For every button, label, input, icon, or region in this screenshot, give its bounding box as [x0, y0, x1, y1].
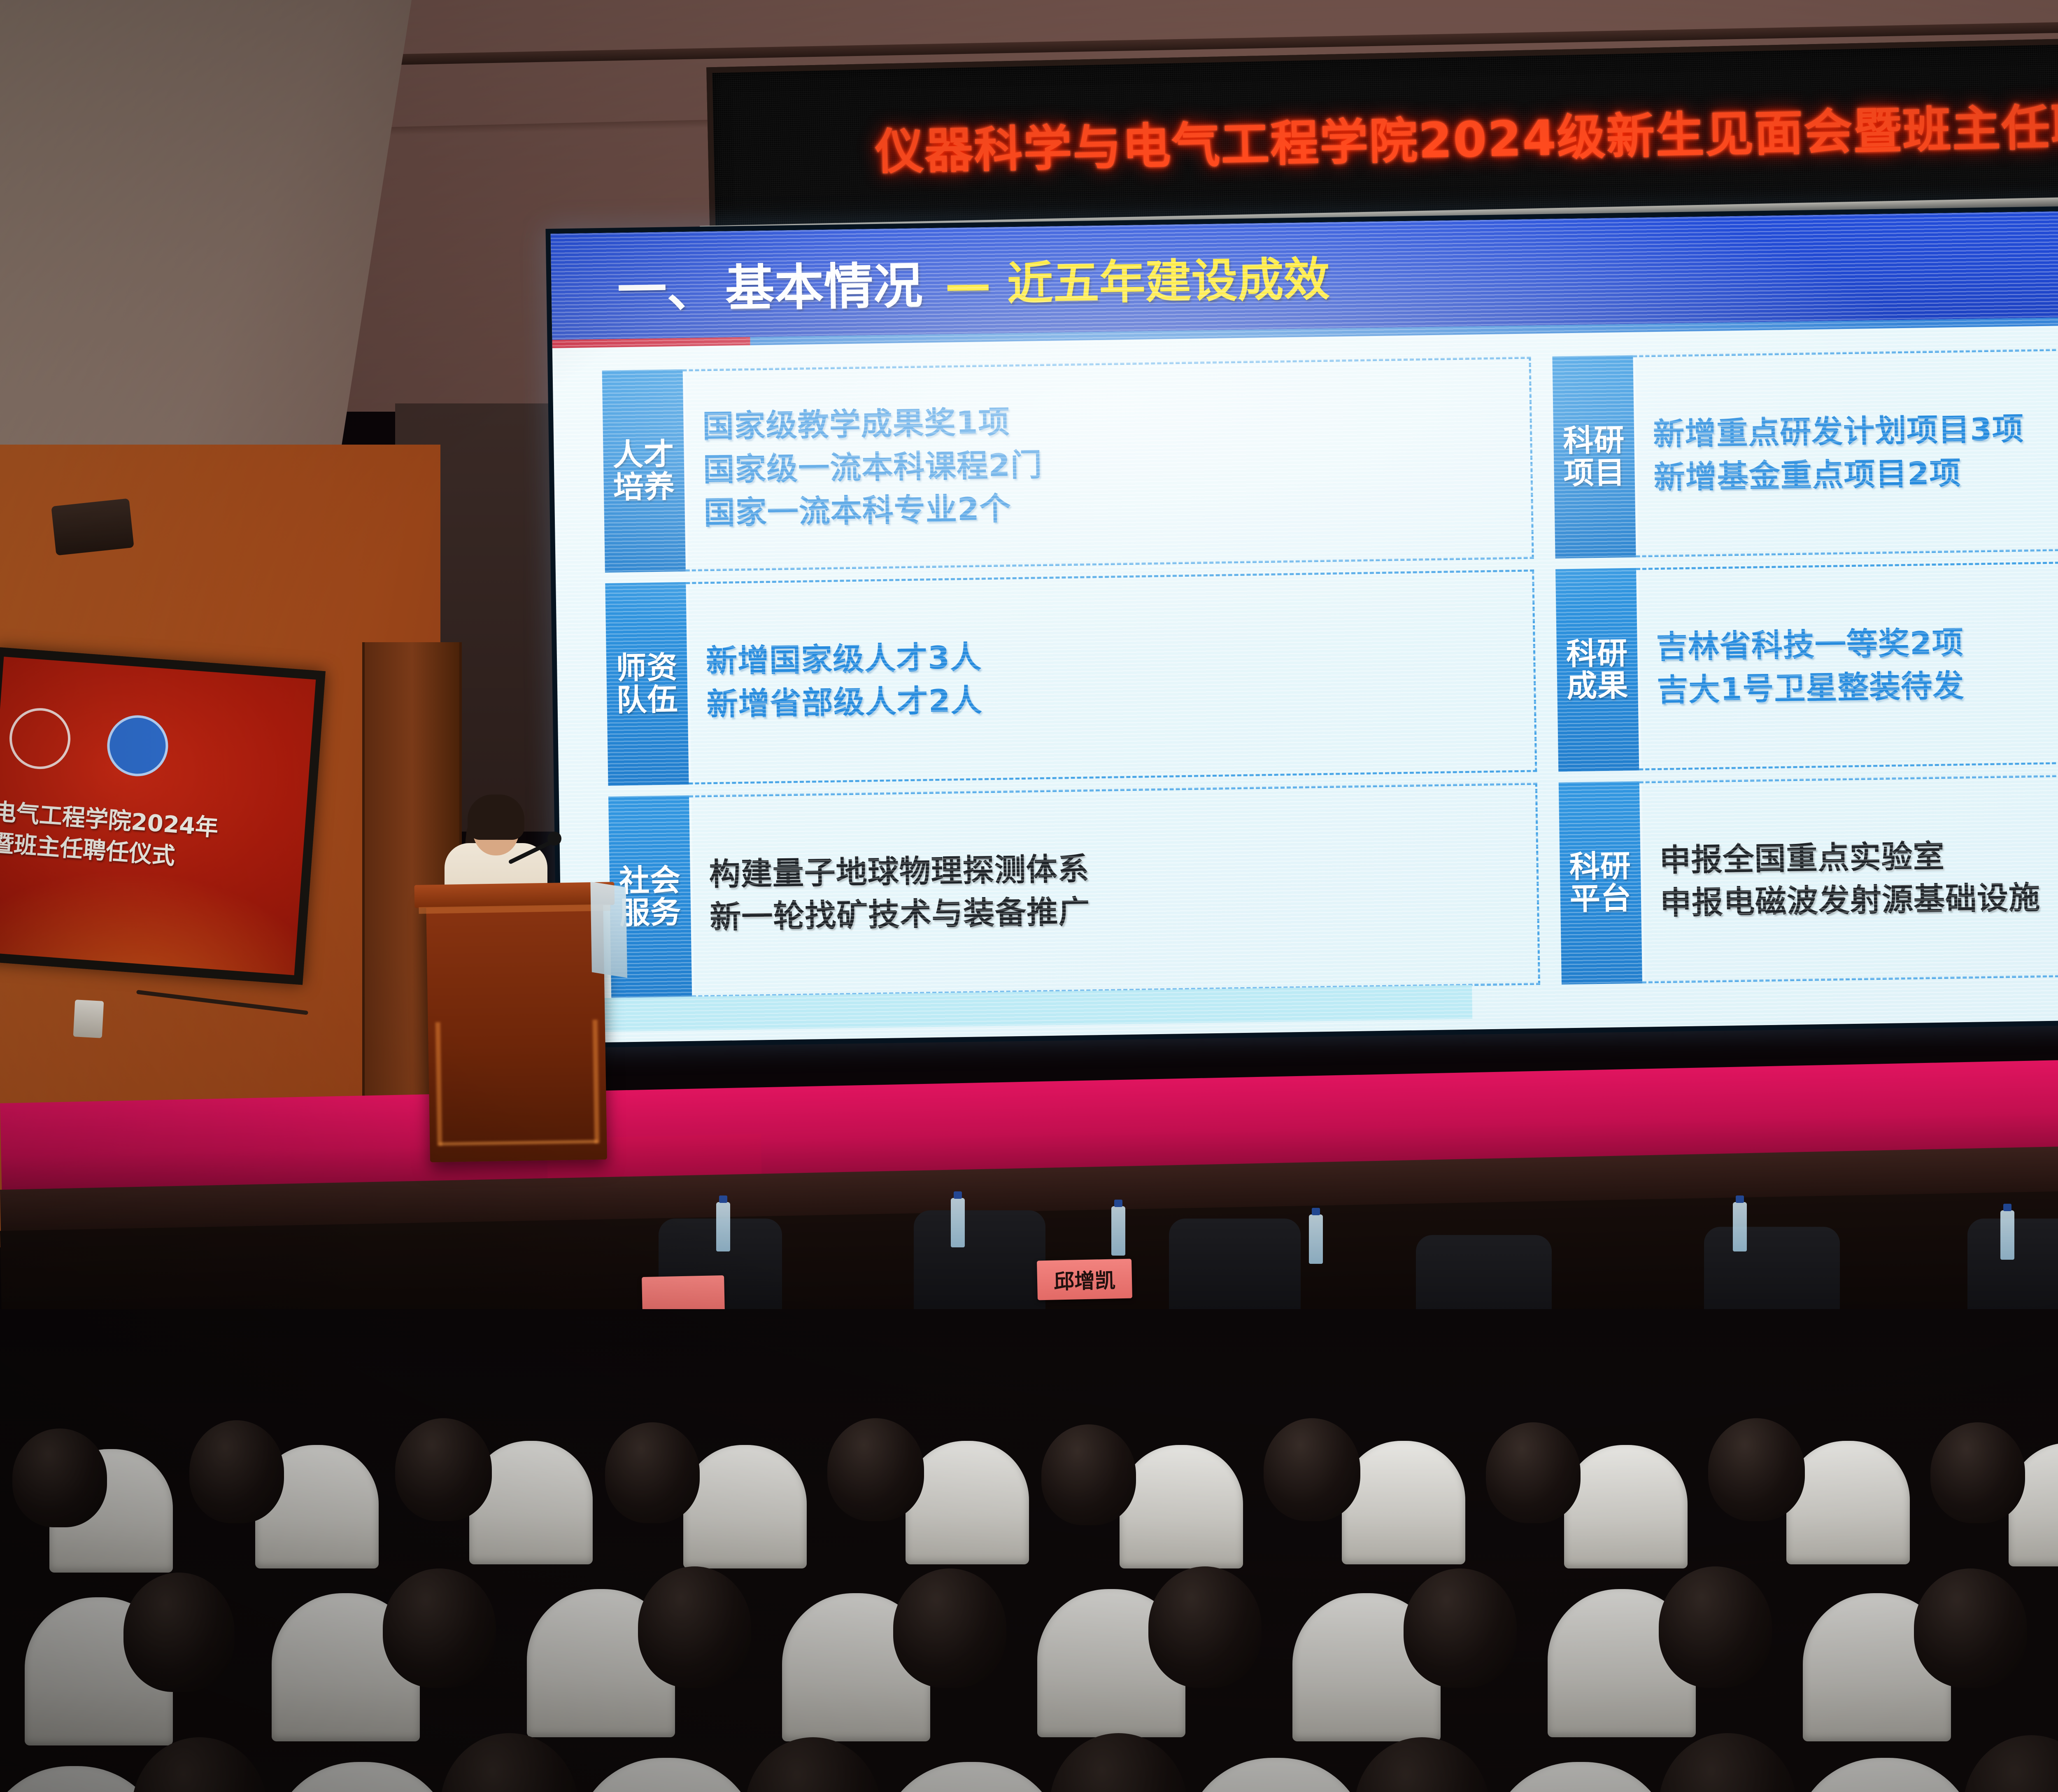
audience-head — [893, 1568, 1006, 1688]
audience-head — [745, 1737, 881, 1792]
block-tab-research-platform: 科研 平台 — [1559, 781, 1642, 984]
block-item: 吉林省科技一等奖2项 — [1656, 615, 2058, 668]
audience-head — [1963, 1735, 2058, 1792]
podium-base-light — [439, 1140, 598, 1146]
wall-speaker-icon — [51, 498, 134, 555]
podium-side-monitor-panel — [590, 882, 627, 978]
tab-line-2: 成果 — [1567, 669, 1629, 703]
slide-title-number: 一、 — [617, 249, 717, 322]
water-bottle — [1733, 1202, 1747, 1251]
block-body-research-achievements: 吉林省科技一等奖2项 吉大1号卫星整装待发 — [1636, 555, 2058, 770]
audience-head — [638, 1566, 751, 1688]
speaking-podium — [426, 896, 607, 1163]
podium-left-edge-light — [435, 1022, 442, 1146]
audience-head — [1148, 1566, 1262, 1688]
audience-head — [605, 1422, 700, 1523]
microphone-icon — [547, 832, 561, 846]
audience-head — [1404, 1568, 1517, 1688]
podium-top-surface — [414, 882, 615, 908]
block-tab-research-achievements: 科研 成果 — [1555, 568, 1639, 771]
water-bottle — [2000, 1210, 2014, 1260]
side-monitor-screen: 学与电气工程学院2024年 面会暨班主任聘任仪式 — [0, 657, 316, 975]
tab-line-2: 项目 — [1563, 457, 1625, 490]
audience-head — [123, 1573, 235, 1692]
audience-head — [1659, 1566, 1772, 1688]
college-emblem-icon — [105, 713, 170, 778]
tab-line-2: 平台 — [1569, 882, 1632, 916]
audience-chair — [1120, 1445, 1243, 1568]
block-tab-talent-cultivation: 人才 培养 — [602, 369, 686, 573]
audience-chair — [1490, 1762, 1671, 1792]
presenter-hair — [468, 795, 524, 840]
water-bottle — [716, 1202, 730, 1251]
audience-chair — [576, 1758, 757, 1792]
tab-line-2: 队伍 — [616, 683, 678, 717]
audience-head — [395, 1418, 492, 1521]
water-bottle — [1309, 1214, 1323, 1264]
block-body-social-service: 构建量子地球物理探测体系 新一轮找矿技术与装备推广 — [689, 783, 1540, 997]
audience-head — [440, 1733, 578, 1792]
audience-chair — [906, 1441, 1029, 1564]
audience-head — [1486, 1422, 1581, 1523]
audience-head — [383, 1568, 496, 1688]
audience-head — [1659, 1733, 1797, 1792]
audience-chair — [272, 1762, 453, 1792]
tab-line-1: 科研 — [1566, 637, 1628, 671]
slide-surface: 一、 基本情况 — 近五年建设成效 人才 培养 国家级教学成果奖1项 国家 — [551, 204, 2058, 1043]
audience-head — [827, 1418, 924, 1521]
audience-head — [1914, 1568, 2027, 1688]
projection-screen: 一、 基本情况 — 近五年建设成效 人才 培养 国家级教学成果奖1项 国家 — [546, 199, 2058, 1048]
audience-head — [1930, 1422, 2025, 1523]
block-item: 申报全国重点实验室 — [1659, 828, 2058, 881]
podium-right-edge-light — [593, 1020, 600, 1143]
content-block-research-platform: 科研 平台 申报全国重点实验室 申报电磁波发射源基础设施 — [1559, 769, 2058, 985]
content-block-talent-cultivation: 人才 培养 国家级教学成果奖1项 国家级一流本科课程2门 国家一流本科专业2个 — [602, 357, 1534, 573]
block-item: 新增重点研发计划项目3项 — [1653, 402, 2058, 455]
audience-head — [1041, 1424, 1136, 1525]
tab-line-1: 科研 — [1563, 424, 1625, 457]
audience-chair — [1564, 1445, 1688, 1568]
audience-head — [189, 1420, 284, 1523]
audience-chair — [1185, 1758, 1367, 1792]
water-bottle — [951, 1198, 965, 1247]
block-tab-research-projects: 科研 项目 — [1552, 355, 1636, 559]
audience-head — [1708, 1418, 1805, 1521]
side-monitor: 学与电气工程学院2024年 面会暨班主任聘任仪式 — [0, 647, 326, 985]
block-body-research-projects: 新增重点研发计划项目3项 新增基金重点项目2项 — [1633, 343, 2058, 557]
tab-line-1: 科研 — [1569, 850, 1631, 883]
audience-chair — [1795, 1758, 1976, 1792]
content-block-research-achievements: 科研 成果 吉林省科技一等奖2项 吉大1号卫星整装待发 — [1555, 555, 2058, 771]
name-placard — [642, 1275, 725, 1314]
audience-head — [1264, 1418, 1360, 1521]
audience-chair — [1786, 1441, 1910, 1564]
block-body-research-platform: 申报全国重点实验室 申报电磁波发射源基础设施 — [1639, 769, 2058, 983]
block-body-talent-cultivation: 国家级教学成果奖1项 国家级一流本科课程2门 国家一流本科专业2个 — [683, 357, 1534, 571]
block-body-faculty-team: 新增国家级人才3人 新增省部级人才2人 — [686, 570, 1537, 785]
tab-line-1: 社会 — [619, 864, 681, 897]
slide-content-grid: 人才 培养 国家级教学成果奖1项 国家级一流本科课程2门 国家一流本科专业2个 … — [552, 328, 2058, 999]
audience-area — [0, 1309, 2058, 1792]
audience-head — [1050, 1733, 1187, 1792]
slide-title-subtitle: — 近五年建设成效 — [944, 242, 1330, 315]
audience-head — [12, 1428, 107, 1527]
name-placard: 邱增凯 — [1037, 1259, 1132, 1300]
auditorium-scene: 仪器科学与电气工程学院2024级新生见面会暨班主任聘任仪式 一、 基本情况 — … — [0, 0, 2058, 1792]
slide-title-main: 基本情况 — [724, 245, 923, 320]
monitor-logo-row — [7, 706, 170, 778]
tab-line-1: 师资 — [616, 651, 678, 685]
audience-chair — [1342, 1441, 1465, 1564]
block-tab-faculty-team: 师资 队伍 — [605, 582, 689, 785]
audience-head — [1354, 1737, 1490, 1792]
tab-line-1: 人才 — [612, 438, 675, 472]
water-bottle — [1111, 1206, 1125, 1256]
content-block-research-projects: 科研 项目 新增重点研发计划项目3项 新增基金重点项目2项 — [1552, 343, 2058, 559]
tab-line-2: 培养 — [613, 471, 675, 504]
content-block-faculty-team: 师资 队伍 新增国家级人才3人 新增省部级人才2人 — [605, 570, 1537, 786]
jilin-university-logo-icon — [7, 706, 72, 771]
audience-chair — [881, 1762, 1062, 1792]
content-block-social-service: 社会 服务 构建量子地球物理探测体系 新一轮找矿技术与装备推广 — [608, 783, 1540, 999]
audience-chair — [683, 1445, 807, 1568]
wall-outlet — [73, 1000, 104, 1038]
tab-line-2: 服务 — [619, 897, 682, 930]
